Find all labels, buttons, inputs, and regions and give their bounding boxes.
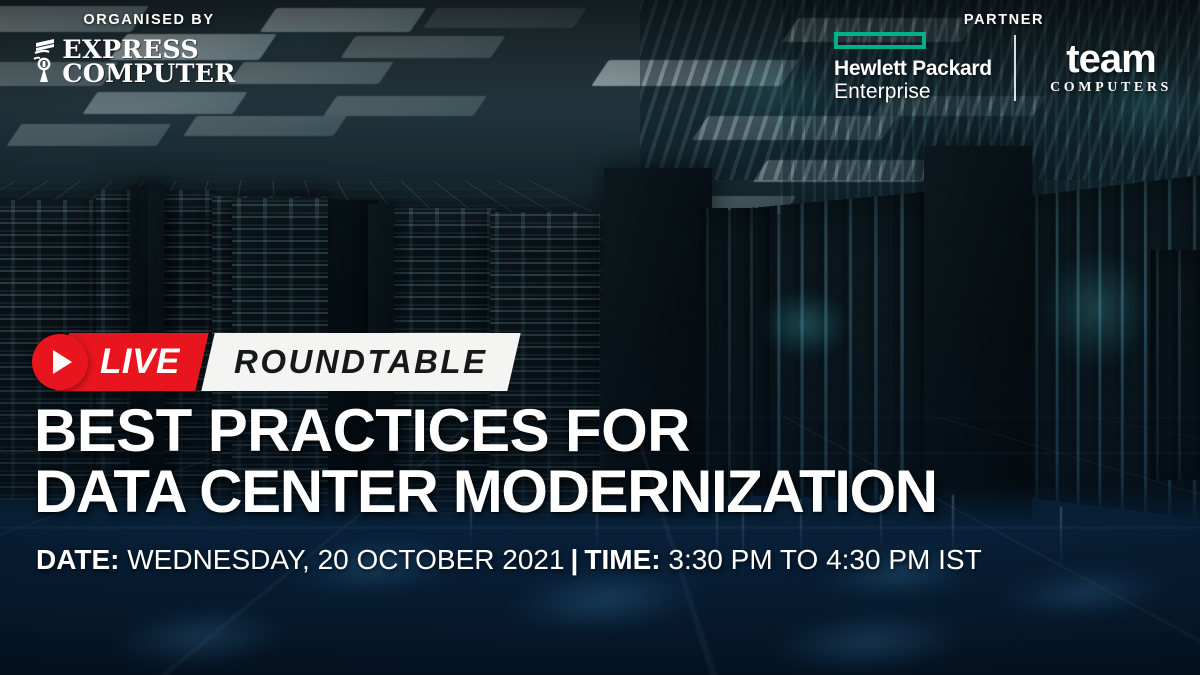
page-title: BEST PRACTICES FOR DATA CENTER MODERNIZA… bbox=[34, 400, 1174, 522]
partner-label: PARTNER bbox=[824, 12, 1184, 28]
promo-banner: ORGANISED BY bbox=[0, 0, 1200, 675]
event-type-chip: ROUNDTABLE bbox=[201, 333, 520, 391]
organiser-block: ORGANISED BY bbox=[24, 12, 274, 87]
logo-divider bbox=[1014, 35, 1016, 101]
event-type-label: ROUNDTABLE bbox=[234, 343, 488, 381]
time-value: 3:30 PM TO 4:30 PM IST bbox=[668, 544, 981, 575]
quill-nib-icon bbox=[32, 37, 58, 87]
date-value: WEDNESDAY, 20 OCTOBER 2021 bbox=[127, 544, 564, 575]
live-label: LIVE bbox=[100, 342, 180, 382]
play-triangle-icon bbox=[53, 350, 72, 374]
express-computer-line2: COMPUTER bbox=[62, 62, 235, 86]
date-label: DATE: bbox=[36, 544, 119, 575]
hpe-line2: Enterprise bbox=[834, 80, 1000, 104]
organised-by-label: ORGANISED BY bbox=[24, 12, 274, 28]
partner-logos-row: Hewlett Packard Enterprise team COMPUTER… bbox=[824, 32, 1184, 104]
express-computer-wordmark: EXPRESS COMPUTER bbox=[62, 38, 235, 86]
play-button-badge[interactable] bbox=[32, 334, 88, 390]
banner-content: ORGANISED BY bbox=[0, 0, 1200, 675]
time-label: TIME: bbox=[584, 544, 660, 575]
hpe-logo: Hewlett Packard Enterprise bbox=[834, 32, 1014, 104]
team-line1: team bbox=[1038, 40, 1184, 78]
live-roundtable-ribbon: LIVE ROUNDTABLE bbox=[32, 333, 513, 391]
hpe-line1: Hewlett Packard bbox=[834, 58, 1000, 80]
team-computers-logo: team COMPUTERS bbox=[1038, 40, 1184, 96]
event-datetime: DATE: WEDNESDAY, 20 OCTOBER 2021|TIME: 3… bbox=[36, 543, 982, 577]
partner-block: PARTNER Hewlett Packard Enterprise team … bbox=[824, 12, 1184, 104]
meta-separator: | bbox=[565, 544, 585, 575]
headline-line-2: DATA CENTER MODERNIZATION bbox=[34, 461, 1174, 522]
team-line2: COMPUTERS bbox=[1038, 80, 1184, 96]
logo-bar: ORGANISED BY bbox=[0, 0, 1200, 120]
headline-line-1: BEST PRACTICES FOR bbox=[34, 400, 1174, 461]
hpe-rectangle-icon bbox=[834, 32, 926, 49]
express-computer-logo: EXPRESS COMPUTER bbox=[24, 37, 274, 87]
